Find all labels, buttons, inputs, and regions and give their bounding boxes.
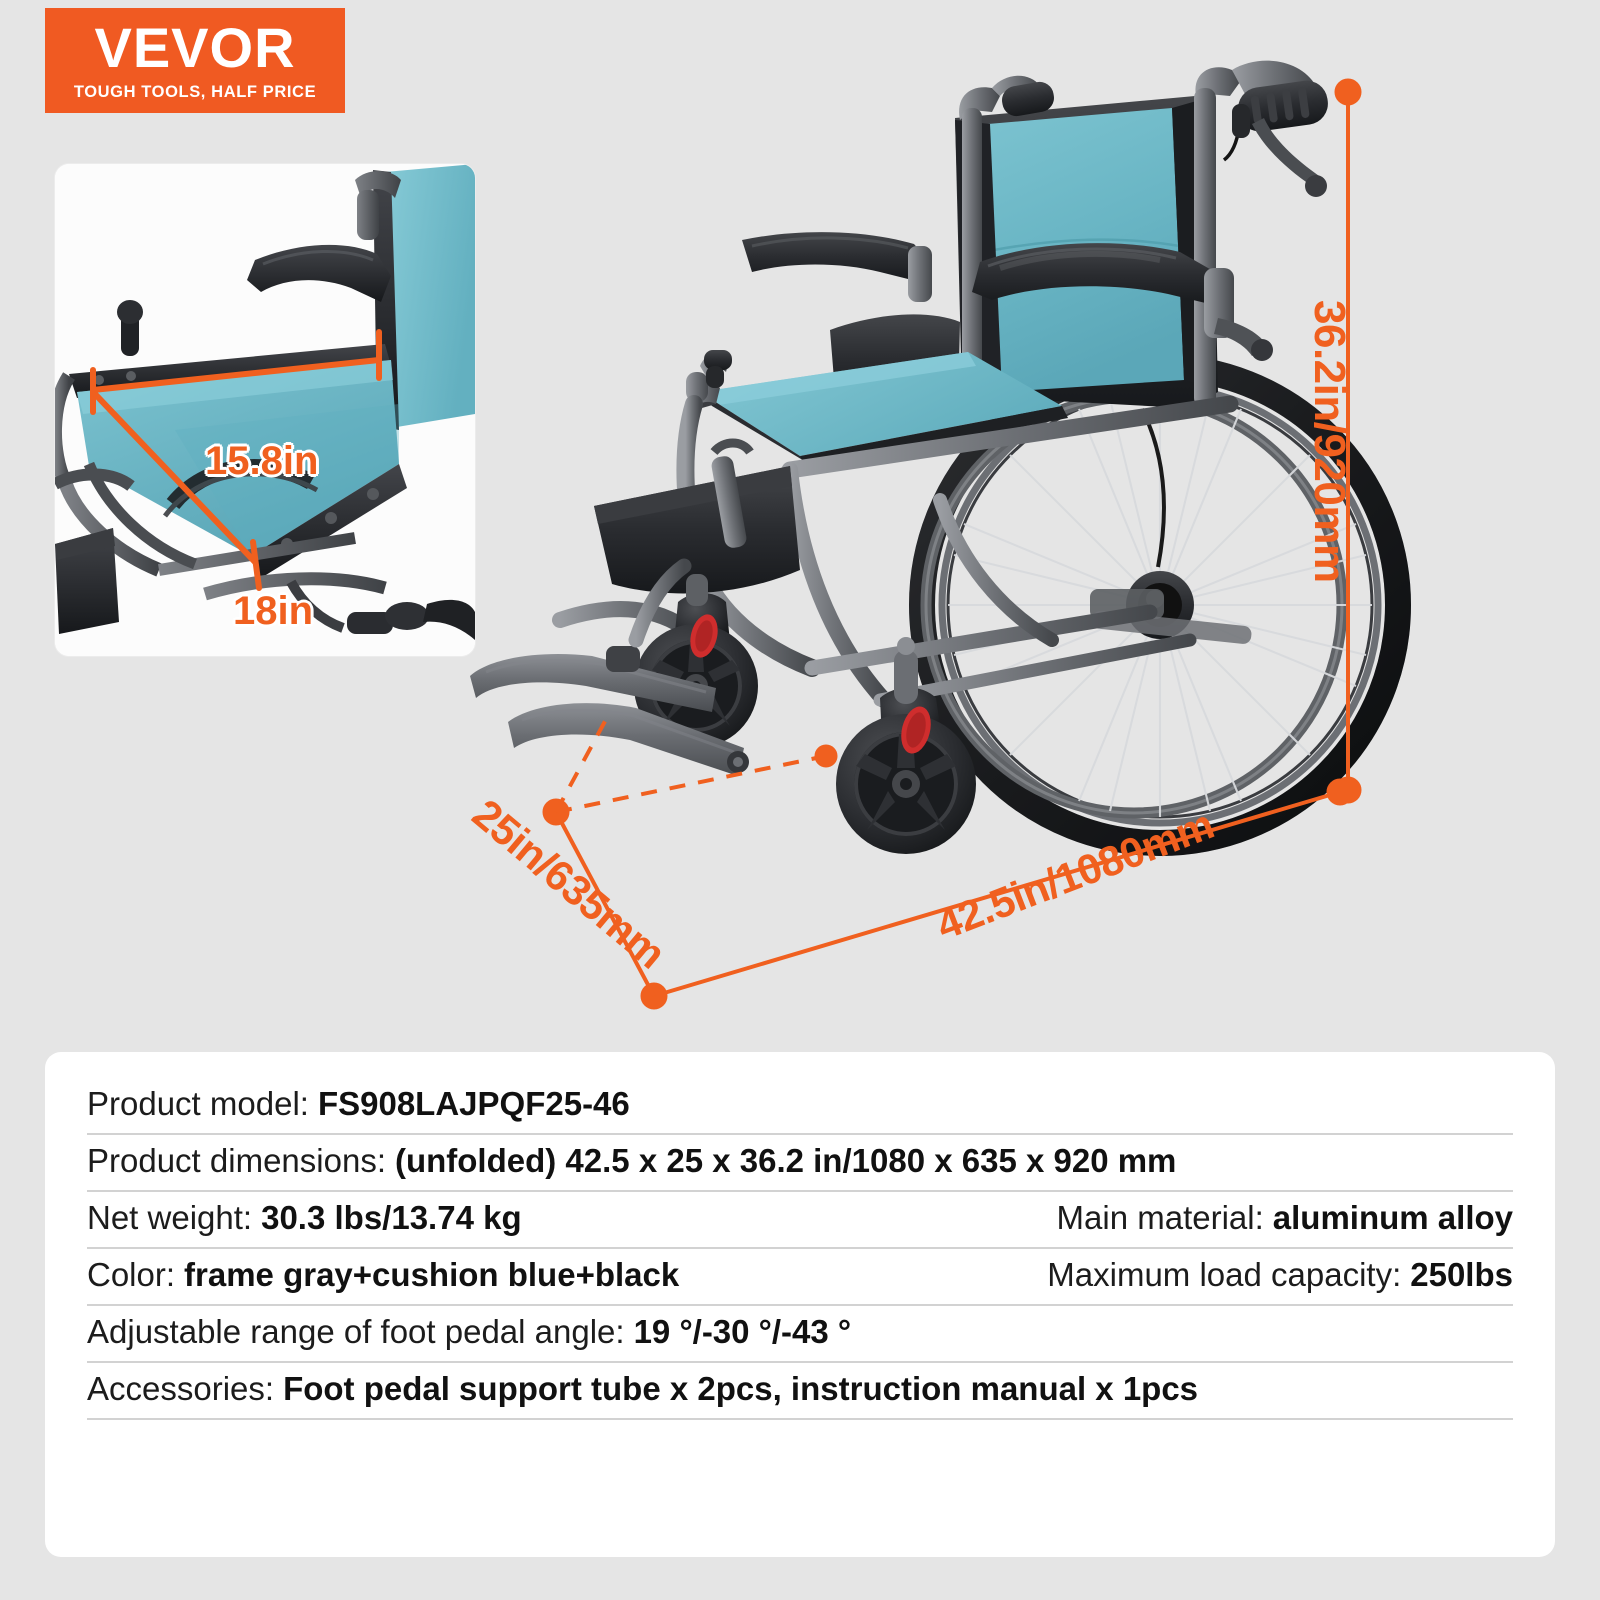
spec-row-pedal-angle: Adjustable range of foot pedal angle: 19… <box>87 1306 1513 1363</box>
spec-label-pedal-angle: Adjustable range of foot pedal angle: <box>87 1313 625 1351</box>
seat-dimension-closeup-photo: 15.8in 18in <box>55 164 475 656</box>
spec-label-material: Main material: <box>1057 1199 1264 1237</box>
spec-label-weight: Net weight: <box>87 1199 252 1237</box>
spec-row-accessories: Accessories: Foot pedal support tube x 2… <box>87 1363 1513 1420</box>
spec-label-color: Color: <box>87 1256 175 1294</box>
spec-value-material: aluminum alloy <box>1273 1199 1513 1237</box>
spec-row-weight-material: Net weight: 30.3 lbs/13.74 kg Main mater… <box>87 1192 1513 1249</box>
backpost-right <box>1194 88 1216 408</box>
seat-width-label: 15.8in <box>205 439 318 484</box>
spec-cell-weight: Net weight: 30.3 lbs/13.74 kg <box>87 1199 522 1237</box>
spec-cell-load: Maximum load capacity: 250lbs <box>1047 1256 1513 1294</box>
spec-value-model: FS908LAJPQF25-46 <box>318 1085 630 1123</box>
push-handle-right <box>1224 61 1331 197</box>
dimension-height-label: 36.2in/920mm <box>1304 300 1354 583</box>
spec-label-dimensions: Product dimensions: <box>87 1142 386 1180</box>
spec-cell-color: Color: frame gray+cushion blue+black <box>87 1256 679 1294</box>
closeup-illustration <box>55 164 475 656</box>
specification-panel: Product model: FS908LAJPQF25-46 Product … <box>45 1052 1555 1557</box>
spec-label-model: Product model: <box>87 1085 309 1123</box>
spec-cell-material: Main material: aluminum alloy <box>1057 1199 1513 1237</box>
spec-label-accessories: Accessories: <box>87 1370 274 1408</box>
spec-row-model: Product model: FS908LAJPQF25-46 <box>87 1078 1513 1135</box>
spec-value-accessories: Foot pedal support tube x 2pcs, instruct… <box>283 1370 1198 1408</box>
spec-label-load: Maximum load capacity: <box>1047 1256 1401 1294</box>
spec-value-pedal-angle: 19 °/-30 °/-43 ° <box>634 1313 852 1351</box>
spec-value-dimensions: (unfolded) 42.5 x 25 x 36.2 in/1080 x 63… <box>395 1142 1176 1180</box>
spec-row-color-load: Color: frame gray+cushion blue+black Max… <box>87 1249 1513 1306</box>
spec-value-weight: 30.3 lbs/13.74 kg <box>261 1199 522 1237</box>
armrest-left <box>742 232 932 302</box>
spec-value-color: frame gray+cushion blue+black <box>184 1256 679 1294</box>
spec-value-load: 250lbs <box>1410 1256 1513 1294</box>
seat-depth-label: 18in <box>233 589 313 634</box>
spec-row-dimensions: Product dimensions: (unfolded) 42.5 x 25… <box>87 1135 1513 1192</box>
